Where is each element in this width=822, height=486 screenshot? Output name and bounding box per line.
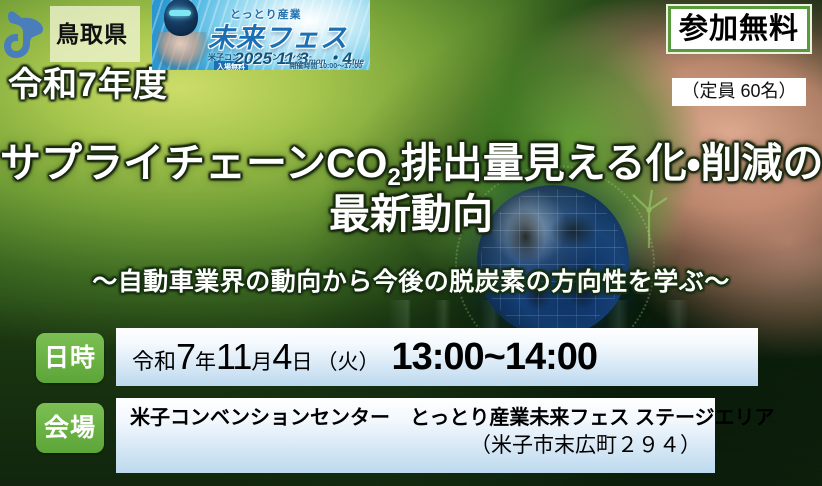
datetime-year-unit: 年 <box>195 352 216 373</box>
title-line-1-prefix: サプライチェーンCO <box>0 140 387 186</box>
venue-info-box: 米子コンベンションセンター とっとり産業未来フェス ステージエリア （米子市末広… <box>116 398 715 473</box>
tottori-bird-logo-icon <box>2 6 54 62</box>
free-admission-box: 参加無料 <box>668 6 810 52</box>
datetime-day-unit: 日 <box>291 352 312 373</box>
free-admission-label: 参加無料 <box>677 14 801 44</box>
datetime-era: 令和 <box>132 351 176 373</box>
title-co2-subscript: 2 <box>387 164 400 191</box>
venue-badge: 会場 <box>36 403 104 453</box>
venue-address: （米子市末広町２９４） <box>130 431 701 461</box>
fiscal-year-label: 令和7年度 <box>8 68 168 102</box>
fest-banner-image: とっとり産業 未来フェス 米子コンベンションセンター 入場無料 2025 11.… <box>152 0 370 70</box>
venue-badge-label: 会場 <box>44 416 96 441</box>
datetime-value: 令和7年11月4日（火）13:00~14:00 <box>132 338 597 376</box>
datetime-month-num: 11 <box>216 339 251 375</box>
poster-title: サプライチェーンCO2排出量見える化・削減の 最新動向 <box>0 138 822 240</box>
datetime-info-box: 令和7年11月4日（火）13:00~14:00 <box>116 328 758 386</box>
capacity-box: （定員 60名） <box>672 78 806 106</box>
prefecture-branding: 鳥取県 <box>0 4 140 64</box>
capacity-label: （定員 60名） <box>676 82 802 102</box>
datetime-year-num: 7 <box>176 339 195 375</box>
datetime-badge-label: 日時 <box>44 346 96 371</box>
datetime-badge: 日時 <box>36 333 104 383</box>
banner-time: 開催時間 10:00〜17:00 <box>289 61 362 70</box>
venue-name: 米子コンベンションセンター とっとり産業未来フェス ステージエリア <box>130 405 701 431</box>
datetime-time-range: 13:00~14:00 <box>391 338 597 376</box>
prefecture-name-plate: 鳥取県 <box>50 6 140 62</box>
title-line-1: サプライチェーンCO2排出量見える化・削減の <box>0 138 822 189</box>
title-line-1-suffix: 排出量見える化・削減の <box>401 140 822 186</box>
datetime-day-of-week: （火） <box>316 352 379 373</box>
datetime-day-num: 4 <box>272 339 291 375</box>
banner-robot-mascot-icon <box>156 0 212 70</box>
poster-subtitle: 〜自動車業界の動向から今後の脱炭素の方向性を学ぶ〜 <box>0 262 822 298</box>
title-line-2: 最新動向 <box>0 189 822 240</box>
datetime-month-unit: 月 <box>251 352 272 373</box>
prefecture-name: 鳥取県 <box>56 23 128 46</box>
event-poster: 鳥取県 令和7年度 とっとり産業 未来フェス 米子コンベンションセンター 入場無… <box>0 0 822 486</box>
